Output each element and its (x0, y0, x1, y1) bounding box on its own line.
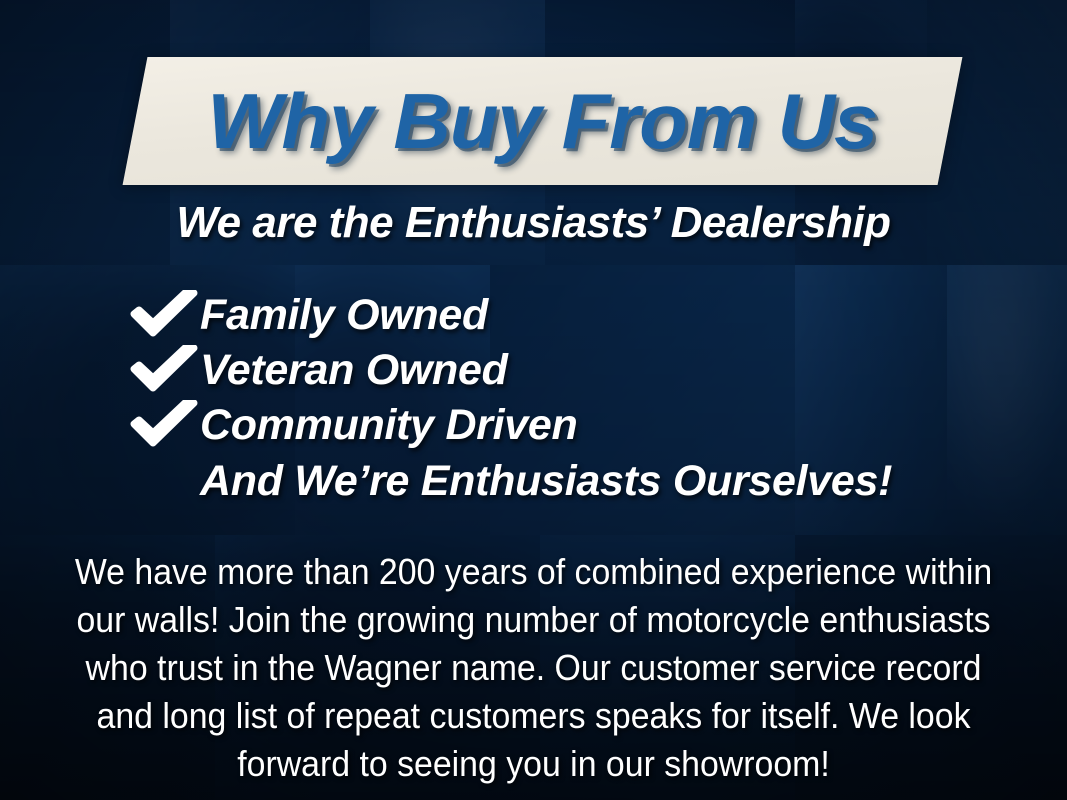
check-icon (128, 400, 200, 452)
subtitle: We are the Enthusiasts’ Dealership (0, 198, 1067, 248)
body-paragraph: We have more than 200 years of combined … (70, 548, 998, 787)
closing-line: And We’re Enthusiasts Ourselves! (128, 459, 988, 504)
page-title: Why Buy From Us (208, 76, 878, 167)
list-item: Family Owned (128, 288, 988, 343)
list-item-label: Community Driven (200, 404, 577, 447)
poster-content: Why Buy From Us We are the Enthusiasts’ … (0, 0, 1067, 800)
benefits-checklist: Family Owned Veteran Owned Community Dri… (128, 288, 988, 504)
title-banner: Why Buy From Us (123, 57, 963, 185)
check-icon (128, 290, 200, 342)
list-item-label: Veteran Owned (200, 349, 508, 392)
why-buy-from-us-poster: Why Buy From Us We are the Enthusiasts’ … (0, 0, 1067, 800)
list-item: Veteran Owned (128, 343, 988, 398)
check-icon (128, 345, 200, 397)
list-item-label: Family Owned (200, 294, 488, 337)
title-banner-inner: Why Buy From Us (135, 57, 950, 185)
list-item: Community Driven (128, 398, 988, 453)
